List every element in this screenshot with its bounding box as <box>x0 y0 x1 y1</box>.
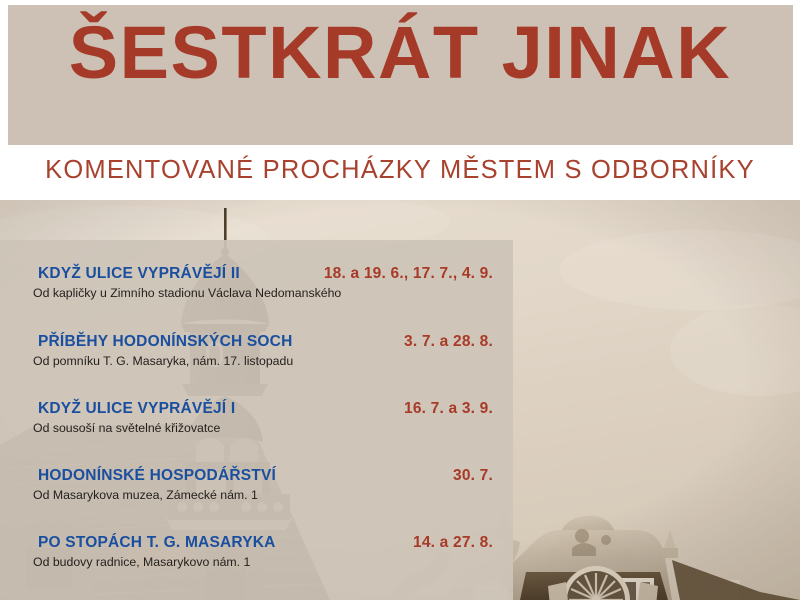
tour-entry[interactable]: KDYŽ ULICE VYPRÁVĚJÍ I 16. 7. a 3. 9. Od… <box>38 399 493 419</box>
tour-entry[interactable] <box>38 591 493 600</box>
tour-name: KDYŽ ULICE VYPRÁVĚJÍ II <box>38 264 240 284</box>
tour-entry[interactable]: PO STOPÁCH T. G. MASARYKA 14. a 27. 8. O… <box>38 533 493 553</box>
tour-entry[interactable]: PŘÍBĚHY HODONÍNSKÝCH SOCH 3. 7. a 28. 8.… <box>38 332 493 352</box>
tour-dates: 30. 7. <box>453 466 493 486</box>
tour-listing-panel: KDYŽ ULICE VYPRÁVĚJÍ II 18. a 19. 6., 17… <box>0 240 513 600</box>
tour-name: PO STOPÁCH T. G. MASARYKA <box>38 533 276 553</box>
tour-name: HODONÍNSKÉ HOSPODÁŘSTVÍ <box>38 466 276 486</box>
tour-meeting-point: Od sousoší na světelné křižovatce <box>33 421 220 436</box>
poster: KDYŽ ULICE VYPRÁVĚJÍ II 18. a 19. 6., 17… <box>0 0 800 600</box>
tour-meeting-point: Od budovy radnice, Masarykovo nám. 1 <box>33 555 250 570</box>
tour-entry-header: PO STOPÁCH T. G. MASARYKA 14. a 27. 8. <box>38 533 493 553</box>
tour-entry[interactable]: KDYŽ ULICE VYPRÁVĚJÍ II 18. a 19. 6., 17… <box>38 264 493 284</box>
tour-entry-header: KDYŽ ULICE VYPRÁVĚJÍ I 16. 7. a 3. 9. <box>38 399 493 419</box>
tour-name: KDYŽ ULICE VYPRÁVĚJÍ I <box>38 399 235 419</box>
tour-meeting-point: Od Masarykova muzea, Zámecké nám. 1 <box>33 488 258 503</box>
tour-meeting-point: Od kapličky u Zimního stadionu Václava N… <box>33 286 341 301</box>
tour-entry-header: PŘÍBĚHY HODONÍNSKÝCH SOCH 3. 7. a 28. 8. <box>38 332 493 352</box>
tour-dates: 18. a 19. 6., 17. 7., 4. 9. <box>324 264 493 284</box>
page-title: ŠESTKRÁT JINAK <box>0 16 800 90</box>
tour-dates: 16. 7. a 3. 9. <box>404 399 493 419</box>
tour-dates: 3. 7. a 28. 8. <box>404 332 493 352</box>
tour-dates: 14. a 27. 8. <box>413 533 493 553</box>
tour-entry-header: KDYŽ ULICE VYPRÁVĚJÍ II 18. a 19. 6., 17… <box>38 264 493 284</box>
tour-entry-header <box>38 591 493 600</box>
page-subtitle: KOMENTOVANÉ PROCHÁZKY MĚSTEM S ODBORNÍKY <box>0 158 800 184</box>
tour-entry-header: HODONÍNSKÉ HOSPODÁŘSTVÍ 30. 7. <box>38 466 493 486</box>
tour-name: PŘÍBĚHY HODONÍNSKÝCH SOCH <box>38 332 292 352</box>
tour-meeting-point: Od pomníku T. G. Masaryka, nám. 17. list… <box>33 354 293 369</box>
tour-entry[interactable]: HODONÍNSKÉ HOSPODÁŘSTVÍ 30. 7. Od Masary… <box>38 466 493 486</box>
